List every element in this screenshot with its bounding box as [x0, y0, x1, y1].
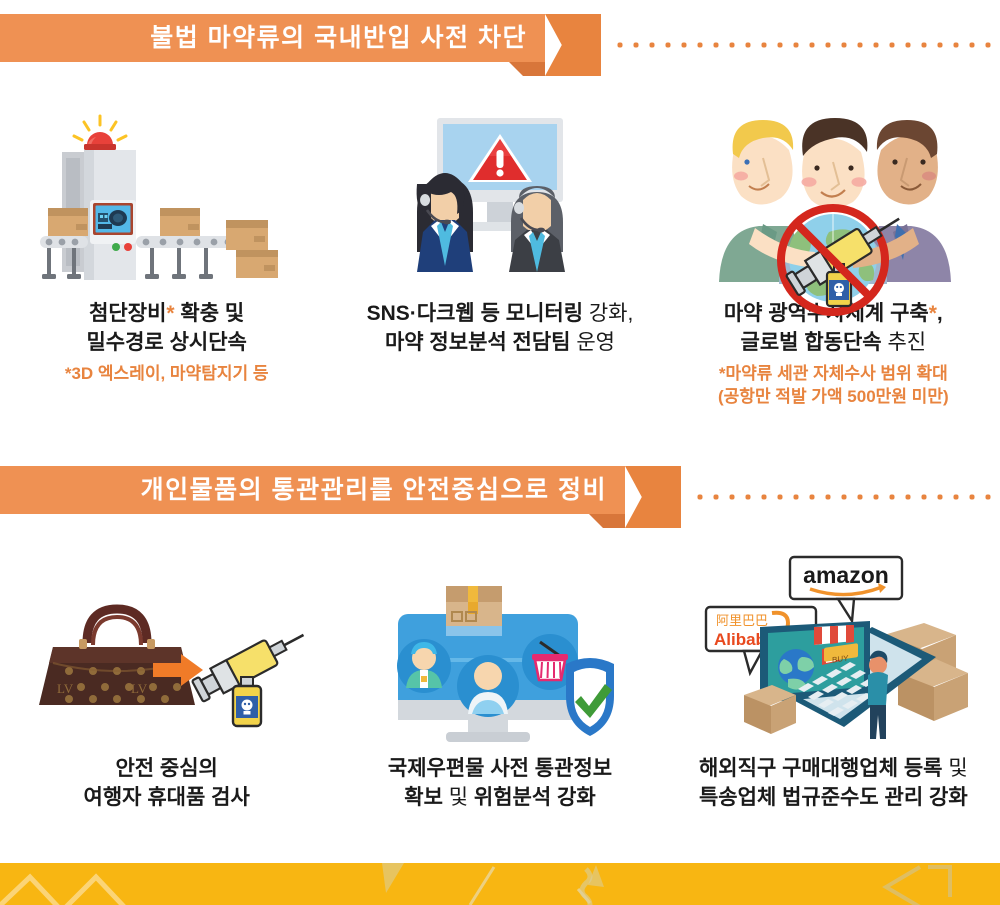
- caption-segment: 첨단장비: [89, 302, 166, 325]
- card-cooperation: 마약 광역수사체계 구축*, 글로벌 합동단속 추진 *마약류 세관 자체수사 …: [667, 110, 1000, 409]
- cooperation-illustration: [701, 112, 966, 290]
- caption-segment: 안전 중심의: [115, 757, 217, 780]
- parcel-illustration: [380, 580, 620, 745]
- caption-asterisk: *: [929, 302, 937, 325]
- section-1-banner: 불법 마약류의 국내반입 사전 차단: [0, 0, 1000, 78]
- svg-text:LV: LV: [131, 681, 148, 696]
- caption-segment: 여행자 휴대품 검사: [84, 786, 250, 809]
- section-1-cards: 첨단장비* 확충 및 밀수경로 상시단속 *3D 엑스레이, 마약탐지기 등: [0, 110, 1000, 409]
- person-avatar-icon: [457, 655, 519, 717]
- caption-segment: 글로벌 합동단속: [741, 331, 882, 354]
- caption-segment: 마약 정보분석 전담팀: [385, 331, 571, 354]
- banner-bar: 불법 마약류의 국내반입 사전 차단: [0, 14, 545, 62]
- card-traveler-baggage: LV LV: [0, 570, 333, 813]
- caption-segment: 위험분석 강화: [474, 786, 596, 809]
- handbag-icon: LV LV: [39, 609, 195, 705]
- caption-line: SNS·다크웹 등 모니터링 강화,: [367, 300, 634, 329]
- section-2-banner: 개인물품의 통관관리를 안전중심으로 정비: [0, 452, 1000, 530]
- xray-scanner-illustration: [32, 112, 302, 290]
- caption-segment: 추진: [882, 331, 926, 354]
- caption-line: 글로벌 합동단속 추진: [718, 329, 949, 358]
- monitoring-agents-icon: [333, 110, 666, 290]
- infographic-page: 불법 마약류의 국내반입 사전 차단: [0, 0, 1000, 905]
- green-indicator-icon: [112, 243, 120, 251]
- parcel-box-icon: [160, 208, 200, 236]
- courier-avatar-icon: [397, 639, 451, 693]
- wave-decoration: [582, 869, 590, 905]
- card-ecommerce: amazon 阿里巴巴 Alibaba .com: [667, 570, 1000, 813]
- caption-segment: 및: [443, 786, 474, 809]
- card-caption: 안전 중심의 여행자 휴대품 검사: [84, 755, 250, 813]
- caption-line: 마약 정보분석 전담팀 운영: [367, 329, 634, 358]
- svg-text:LV: LV: [57, 681, 74, 696]
- caption-segment: 국제우편물 사전 통관정보: [388, 757, 612, 780]
- xray-scanner-icon: [0, 110, 333, 290]
- conveyor-rollers-left: [45, 239, 78, 246]
- ecommerce-laptop-icon: amazon 阿里巴巴 Alibaba .com: [667, 570, 1000, 745]
- caption-note: (공항만 적발 가액 500만원 미만): [718, 386, 949, 409]
- footer-pattern: [0, 863, 1000, 905]
- caption-segment: 해외직구 구매대행업체 등록: [699, 757, 943, 780]
- alibaba-cn-wordmark: 阿里巴巴: [716, 614, 768, 629]
- caption-line: 안전 중심의: [84, 755, 250, 784]
- caption-line: 해외직구 구매대행업체 등록 및: [699, 755, 968, 784]
- amazon-wordmark: amazon: [803, 562, 889, 588]
- banner-dotted-line: [692, 494, 1000, 500]
- standing-person-icon: [868, 651, 888, 739]
- card-caption: SNS·다크웹 등 모니터링 강화, 마약 정보분석 전담팀 운영: [367, 300, 634, 358]
- handbag-syringe-icon: LV LV: [0, 570, 333, 745]
- zigzag-decoration: [0, 877, 130, 905]
- baggage-illustration: LV LV: [27, 595, 307, 745]
- caption-note: *3D 엑스레이, 마약탐지기 등: [65, 363, 269, 386]
- shield-check-icon: [566, 658, 614, 736]
- card-caption: 첨단장비* 확충 및 밀수경로 상시단속 *3D 엑스레이, 마약탐지기 등: [65, 300, 269, 386]
- international-cooperation-icon: [667, 110, 1000, 290]
- arrow-decoration: [886, 867, 950, 905]
- caption-segment: 및: [943, 757, 968, 780]
- caption-segment: SNS·다크웹 등 모니터링: [367, 302, 583, 325]
- caption-asterisk: *: [166, 302, 174, 325]
- card-parcel-screening: 국제우편물 사전 통관정보 확보 및 위험분석 강화: [333, 570, 666, 813]
- caption-line: 확보 및 위험분석 강화: [388, 784, 612, 813]
- banner-fold-shadow: [509, 62, 545, 76]
- agent-female-icon: [417, 173, 473, 272]
- caption-line: 특송업체 법규준수도 관리 강화: [699, 784, 968, 813]
- card-caption: 마약 광역수사체계 구축*, 글로벌 합동단속 추진 *마약류 세관 자체수사 …: [718, 300, 949, 409]
- banner-bar: 개인물품의 통관관리를 안전중심으로 정비: [0, 466, 625, 514]
- banner-dotted-line: [612, 42, 1000, 48]
- banner-title: 불법 마약류의 국내반입 사전 차단: [150, 26, 527, 51]
- card-caption: 국제우편물 사전 통관정보 확보 및 위험분석 강화: [388, 755, 612, 813]
- caption-line: 밀수경로 상시단속: [65, 329, 269, 358]
- banner-ribbon-tail: [625, 466, 681, 528]
- parcel-box-icon: [446, 586, 502, 636]
- caption-segment: 특송업체 법규준수도 관리 강화: [699, 786, 968, 809]
- caption-segment: ,: [937, 302, 943, 325]
- section-2-cards: LV LV: [0, 570, 1000, 813]
- caption-line: 여행자 휴대품 검사: [84, 784, 250, 813]
- caption-segment: 운영: [571, 331, 615, 354]
- red-indicator-icon: [124, 243, 132, 251]
- monitoring-illustration: [395, 112, 605, 290]
- parcel-box-icon: [744, 685, 796, 734]
- caption-segment: 확충 및: [175, 302, 245, 325]
- banner-title: 개인물품의 통관관리를 안전중심으로 정비: [141, 478, 607, 503]
- footer-band: [0, 863, 1000, 905]
- parcel-box-icon: [236, 250, 278, 278]
- card-caption: 해외직구 구매대행업체 등록 및 특송업체 법규준수도 관리 강화: [699, 755, 968, 813]
- banner-ribbon-tail: [545, 14, 601, 76]
- caption-line: 첨단장비* 확충 및: [65, 300, 269, 329]
- caption-segment: 밀수경로 상시단속: [86, 331, 246, 354]
- parcel-screening-icon: [333, 570, 666, 745]
- caption-line: 국제우편물 사전 통관정보: [388, 755, 612, 784]
- banner-fold-shadow: [589, 514, 625, 528]
- caption-segment: 강화,: [583, 302, 633, 325]
- parcel-box-icon: [226, 220, 268, 250]
- caption-segment: 확보: [404, 786, 443, 809]
- card-monitoring: SNS·다크웹 등 모니터링 강화, 마약 정보분석 전담팀 운영: [333, 110, 666, 409]
- ecommerce-illustration: amazon 阿里巴巴 Alibaba .com: [688, 555, 978, 745]
- card-xray-scanner: 첨단장비* 확충 및 밀수경로 상시단속 *3D 엑스레이, 마약탐지기 등: [0, 110, 333, 409]
- parcel-box-icon: [48, 208, 88, 236]
- caption-note: *마약류 세관 자체수사 범위 확대: [718, 363, 949, 386]
